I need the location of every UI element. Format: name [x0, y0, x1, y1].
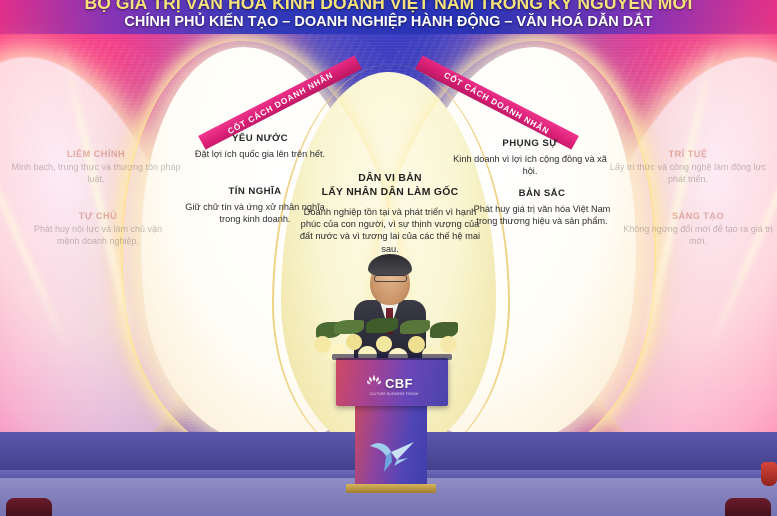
- value-block-ban-sac: BẢN SẮC Phát huy giá trị văn hóa Việt Na…: [469, 188, 615, 227]
- dove-bird-icon: [364, 436, 418, 476]
- value-block-dan-vi-ban: DÂN VI BẢN LẤY NHÂN DÂN LÀM GỐC Doanh ng…: [296, 172, 484, 255]
- value-title-yeu-nuoc: YÊU NƯỚC: [186, 133, 334, 146]
- lectern-panel: CBF CULTURE BUSINESS FORUM: [336, 358, 448, 406]
- value-title-phung-su: PHỤNG SỰ: [451, 138, 609, 151]
- value-title-tri-tue: TRÍ TUỆ: [600, 148, 776, 160]
- cbf-logo-text: CBF: [385, 376, 413, 391]
- value-title-liem-chinh: LIÊM CHÍNH: [10, 148, 182, 160]
- podium-and-speaker: CBF CULTURE BUSINESS FORUM: [330, 246, 452, 451]
- chair-right: [725, 498, 771, 516]
- value-body-yeu-nuoc: Đặt lợi ích quốc gia lên trên hết.: [186, 148, 334, 160]
- value-body-tu-chu: Phát huy nội lực và làm chủ vận mệnh doa…: [22, 224, 174, 248]
- value-title-sang-tao: SÁNG TẠO: [622, 210, 774, 222]
- value-body-sang-tao: Không ngừng đổi mới để tạo ra giá trị mớ…: [622, 224, 774, 248]
- value-block-liem-chinh: LIÊM CHÍNH Minh bạch, trung thực và thượ…: [10, 148, 182, 186]
- value-body-tri-tue: Lấy tri thức và công nghệ làm động lực p…: [600, 162, 776, 186]
- page-title: BỘ GIÁ TRỊ VĂN HOÁ KINH DOANH VIỆT NAM T…: [0, 0, 777, 14]
- value-body-ban-sac: Phát huy giá trị văn hóa Việt Nam trong …: [469, 203, 615, 227]
- page-subtitle: CHÍNH PHỦ KIẾN TẠO – DOANH NGHIỆP HÀNH Đ…: [0, 14, 777, 30]
- lectern-base: [346, 484, 436, 493]
- value-body-liem-chinh: Minh bạch, trung thực và thượng tôn pháp…: [10, 162, 182, 186]
- center-title-line-1: DÂN VI BẢN: [296, 172, 484, 186]
- value-block-sang-tao: SÁNG TẠO Không ngừng đổi mới để tạo ra g…: [622, 210, 774, 248]
- value-block-tri-tue: TRÍ TUỆ Lấy tri thức và công nghệ làm độ…: [600, 148, 776, 186]
- lectern-top-edge: [332, 354, 452, 360]
- event-stage-photo: BỘ GIÁ TRỊ VĂN HOÁ KINH DOANH VIỆT NAM T…: [0, 0, 777, 516]
- cbf-logo-subtext: CULTURE BUSINESS FORUM: [364, 392, 424, 396]
- lotus-flame-icon: [366, 374, 382, 392]
- value-block-tu-chu: TỰ CHỦ Phát huy nội lực và làm chủ vận m…: [22, 210, 174, 248]
- center-title-line-2: LẤY NHÂN DÂN LÀM GỐC: [296, 186, 484, 200]
- speaker-glasses: [374, 275, 407, 282]
- value-block-yeu-nuoc: YÊU NƯỚC Đặt lợi ích quốc gia lên trên h…: [186, 133, 334, 160]
- chair-left: [6, 498, 52, 516]
- speaker-hair: [368, 254, 412, 276]
- decor-vase-right: [761, 462, 777, 486]
- value-title-tu-chu: TỰ CHỦ: [22, 210, 174, 222]
- value-title-ban-sac: BẢN SẮC: [469, 188, 615, 201]
